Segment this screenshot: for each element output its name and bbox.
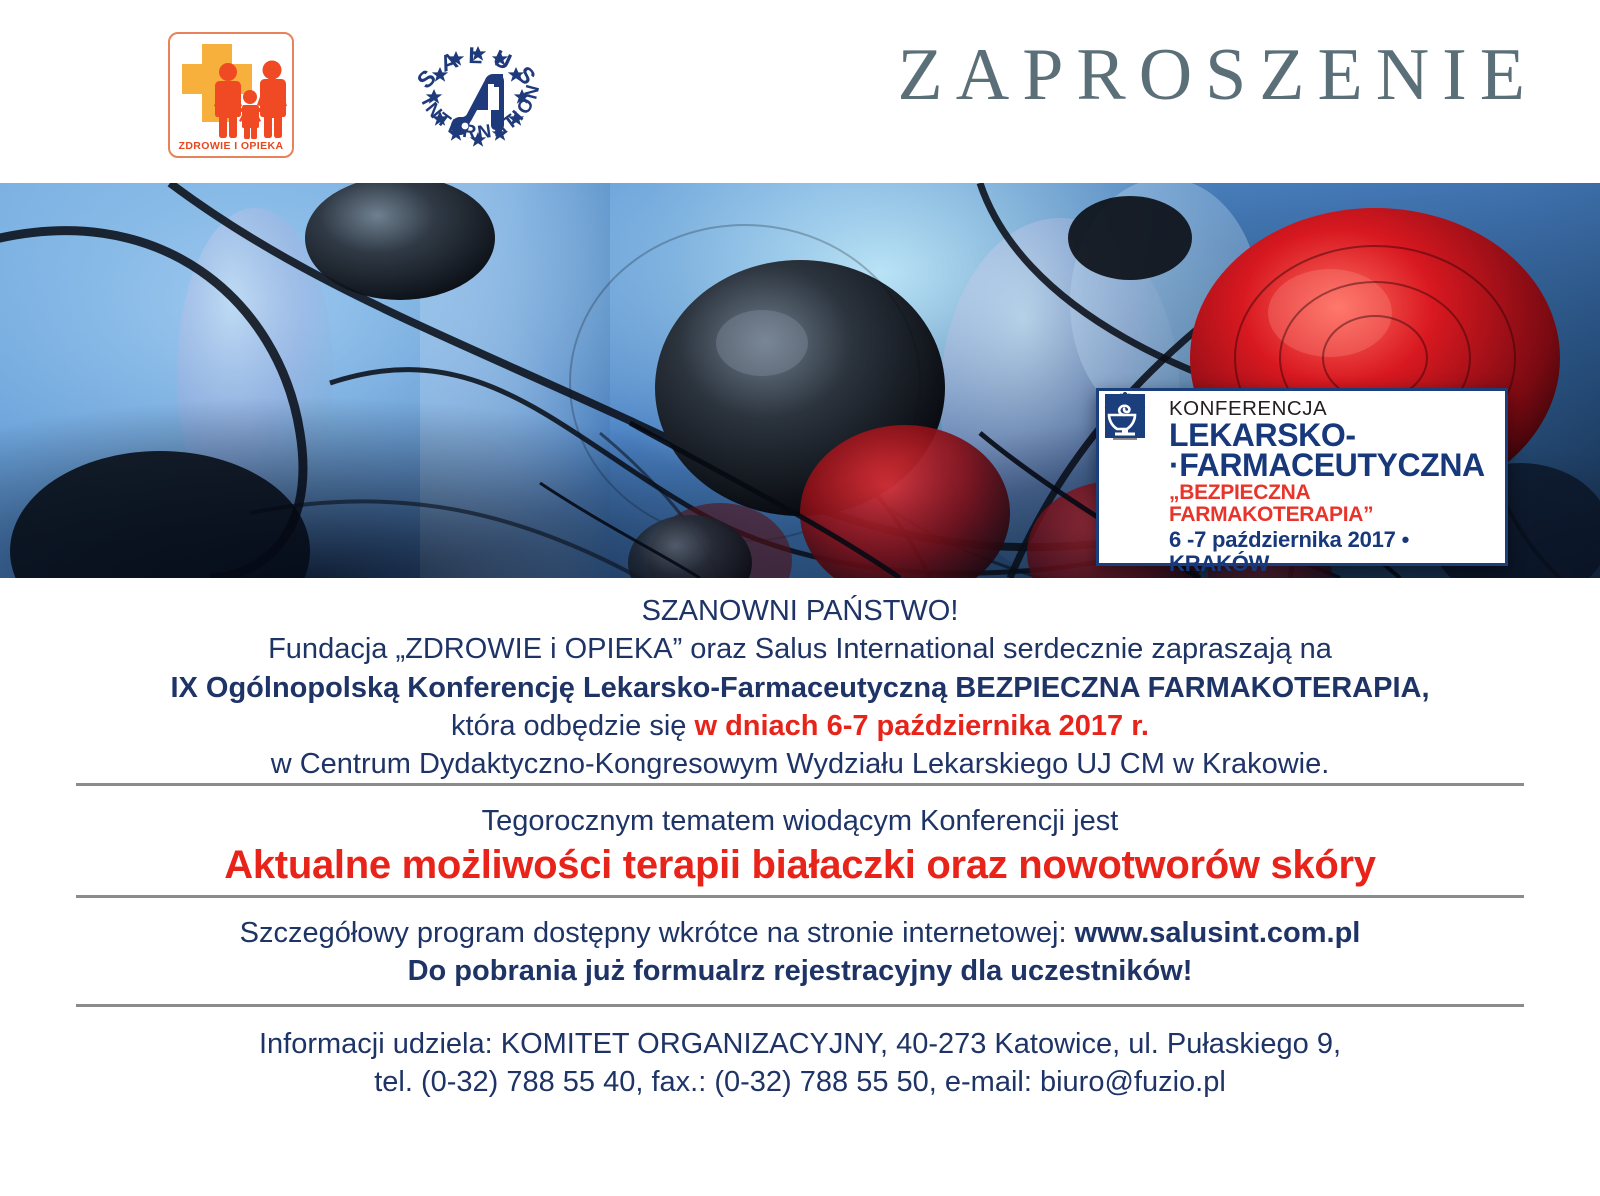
- family-silhouette-icon: [170, 34, 292, 156]
- page-title: ZAPROSZENIE: [898, 38, 1538, 112]
- badge-farmaceutyczna: ·FARMACEUTYCZNA: [1169, 450, 1497, 481]
- badge-emblems: [1099, 391, 1167, 563]
- invite-line-1: Fundacja „ZDROWIE i OPIEKA” oraz Salus I…: [0, 630, 1600, 668]
- invite-line-2: IX Ogólnopolską Konferencję Lekarsko-Far…: [0, 669, 1600, 707]
- contact-line-2: tel. (0-32) 788 55 40, fax.: (0-32) 788 …: [0, 1063, 1600, 1101]
- page-header: ZDROWIE I OPIEKA SALUS INTERNATIONAL: [0, 0, 1600, 183]
- invitation-body: SZANOWNI PAŃSTWO! Fundacja „ZDROWIE i OP…: [0, 578, 1600, 1102]
- invitation-intro-section: SZANOWNI PAŃSTWO! Fundacja „ZDROWIE i OP…: [0, 578, 1600, 783]
- hero-banner: KRAKÓW: [0, 183, 1600, 578]
- badge-text: KONFERENCJA LEKARSKO- ·FARMACEUTYCZNA „B…: [1167, 391, 1505, 563]
- contact-section: Informacji udziela: KOMITET ORGANIZACYJN…: [0, 1007, 1600, 1102]
- conference-badge: KONFERENCJA LEKARSKO- ·FARMACEUTYCZNA „B…: [1096, 388, 1508, 566]
- invite-line-3-prefix: która odbędzie się: [451, 710, 694, 742]
- program-line: Szczegółowy program dostępny wkrótce na …: [0, 914, 1600, 952]
- salus-international-logo-icon: SALUS INTERNATIONAL: [398, 22, 558, 172]
- invite-dates-highlight: w dniach 6-7 października 2017 r.: [694, 710, 1149, 742]
- badge-date-location: 6 -7 października 2017 • KRAKÓW: [1169, 528, 1497, 576]
- badge-lekarsko: LEKARSKO-: [1169, 420, 1497, 451]
- contact-line-1: Informacji udziela: KOMITET ORGANIZACYJN…: [0, 1025, 1600, 1063]
- program-prefix: Szczegółowy program dostępny wkrótce na …: [240, 917, 1075, 949]
- download-note: Do pobrania już formualrz rejestracyjny …: [0, 952, 1600, 990]
- theme-intro: Tegorocznym tematem wiodącym Konferencji…: [0, 802, 1600, 840]
- program-url-link[interactable]: www.salusint.com.pl: [1075, 917, 1361, 949]
- invite-line-4: w Centrum Dydaktyczno-Kongresowym Wydzia…: [0, 745, 1600, 783]
- theme-title: Aktualne możliwości terapii białaczki or…: [0, 841, 1600, 889]
- salutation: SZANOWNI PAŃSTWO!: [0, 592, 1600, 630]
- logo-zdrowie-i-opieka: ZDROWIE I OPIEKA: [168, 32, 294, 158]
- invite-line-3: która odbędzie się w dniach 6-7 paździer…: [0, 707, 1600, 745]
- program-section: Szczegółowy program dostępny wkrótce na …: [0, 898, 1600, 1005]
- theme-section: Tegorocznym tematem wiodącym Konferencji…: [0, 786, 1600, 894]
- badge-motto: „BEZPIECZNA FARMAKOTERAPIA”: [1169, 482, 1497, 526]
- bowl-of-hygieia-icon: [1099, 391, 1151, 441]
- logo-zdrowie-caption: ZDROWIE I OPIEKA: [170, 140, 292, 152]
